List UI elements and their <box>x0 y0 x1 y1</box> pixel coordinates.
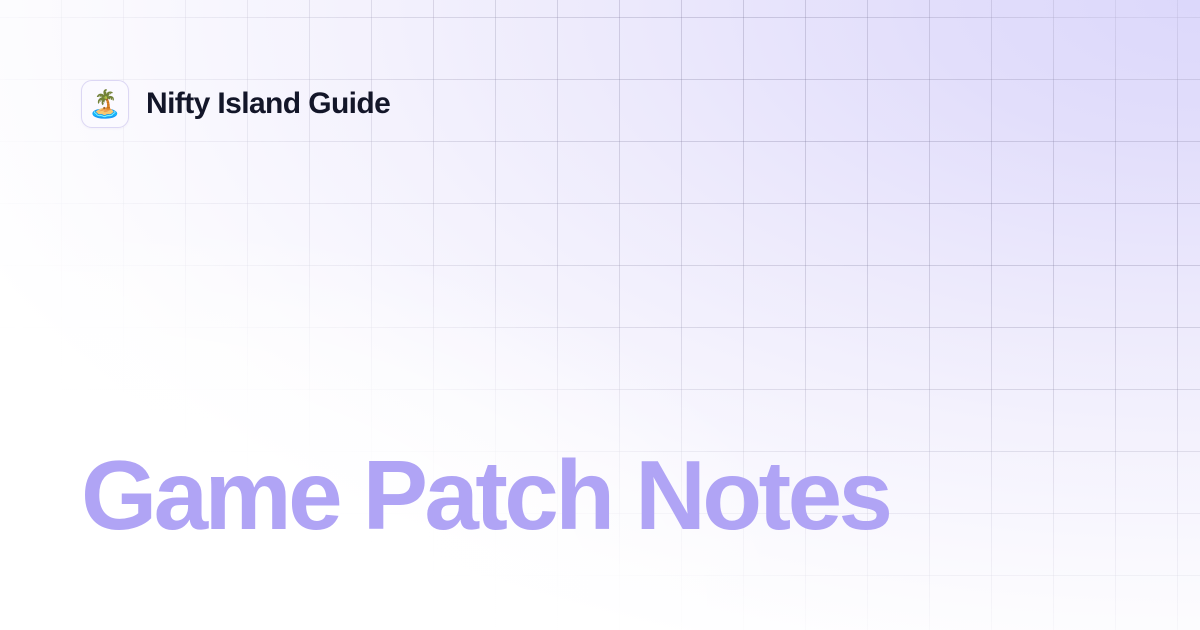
page-title: Game Patch Notes <box>81 446 889 546</box>
brand-logo-badge: 🏝️ <box>81 80 129 128</box>
brand-name: Nifty Island Guide <box>146 87 390 121</box>
brand-header: 🏝️ Nifty Island Guide <box>81 80 390 128</box>
og-card: 🏝️ Nifty Island Guide Game Patch Notes <box>0 0 1200 630</box>
desert-island-emoji-icon: 🏝️ <box>88 91 122 118</box>
